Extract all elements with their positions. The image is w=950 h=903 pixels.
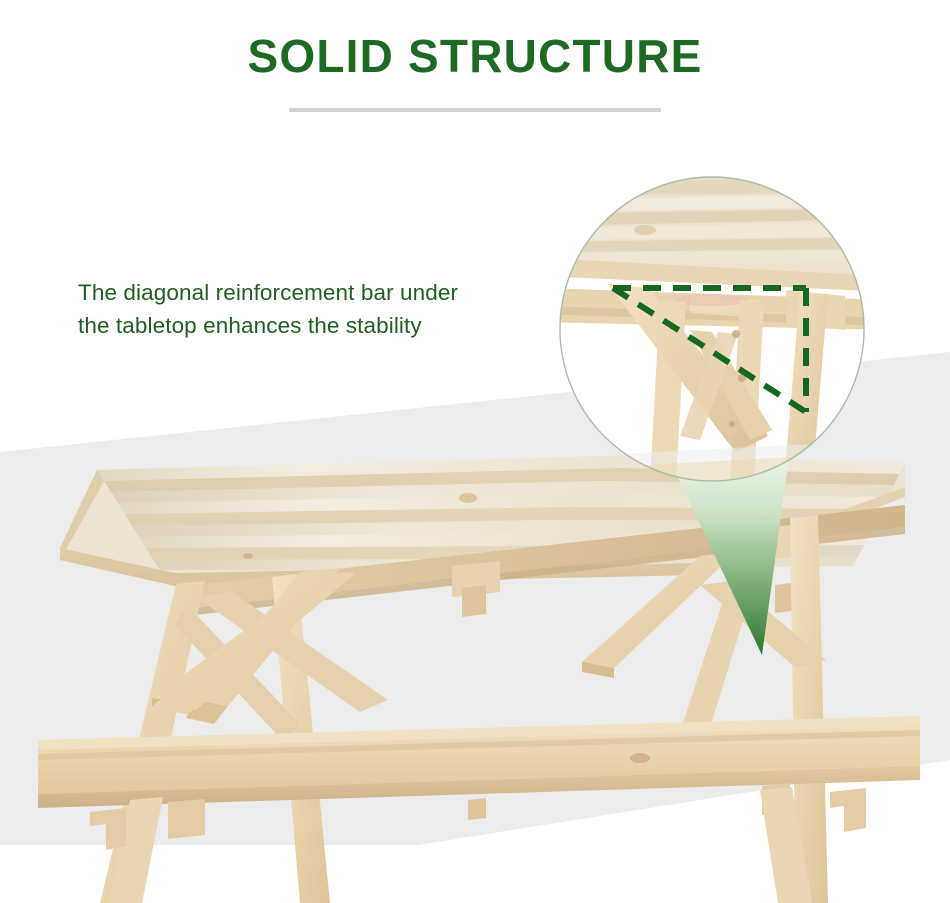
picnic-table xyxy=(38,455,950,903)
bench-bracket-right xyxy=(830,788,866,832)
product-illustration xyxy=(0,0,950,903)
bench-bracket-left xyxy=(90,808,126,850)
magnifier-callout xyxy=(540,177,890,482)
product-feature-banner: SOLID STRUCTURE The diagonal reinforceme… xyxy=(0,0,950,903)
